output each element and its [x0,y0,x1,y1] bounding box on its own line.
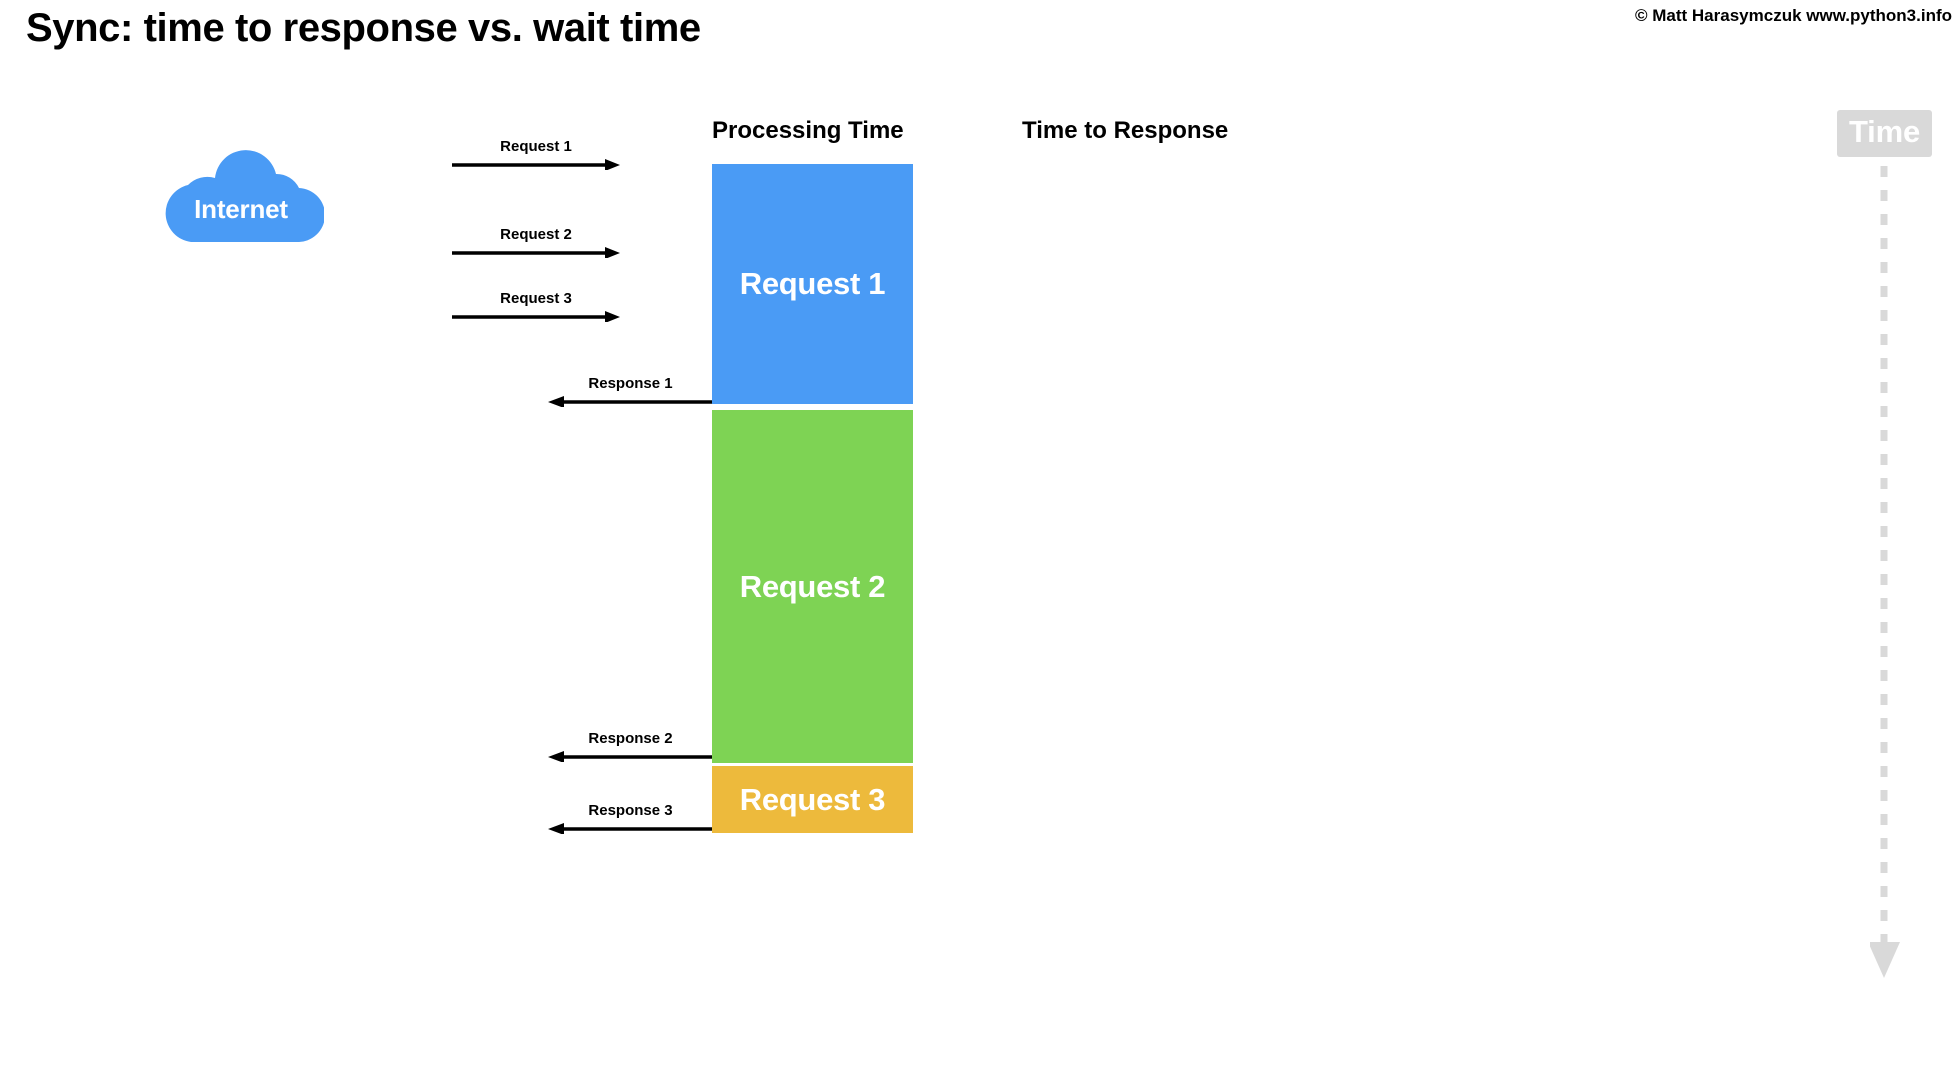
arrow-right-icon [452,226,620,258]
internet-cloud: Internet [158,148,324,242]
processing-block-request-1: Request 1 [712,164,913,404]
time-axis-arrow [1870,166,1910,996]
request-arrow-1: Request 1 [452,138,620,170]
page-title: Sync: time to response vs. wait time [26,6,701,51]
time-axis: Time [1830,110,1960,990]
response-arrow-3: Response 3 [548,802,713,834]
time-to-response-header: Time to Response [1022,117,1228,145]
response-arrow-1: Response 1 [548,375,713,407]
arrow-right-icon [452,290,620,322]
arrow-left-icon [548,802,713,834]
time-axis-label: Time [1849,114,1920,149]
response-arrow-2: Response 2 [548,730,713,762]
processing-block-request-1-label: Request 1 [740,266,885,302]
request-arrow-3: Request 3 [452,290,620,322]
arrow-left-icon [548,375,713,407]
processing-block-request-2-label: Request 2 [740,569,885,605]
processing-time-header: Processing Time [712,117,904,145]
copyright-notice: © Matt Harasymczuk www.python3.info [1635,6,1952,26]
processing-block-request-2: Request 2 [712,410,913,763]
request-arrow-2: Request 2 [452,226,620,258]
arrow-left-icon [548,730,713,762]
internet-cloud-label: Internet [158,194,324,225]
processing-block-request-3-label: Request 3 [740,782,885,818]
processing-block-request-3: Request 3 [712,766,913,833]
time-axis-badge: Time [1837,110,1932,157]
arrow-right-icon [452,138,620,170]
